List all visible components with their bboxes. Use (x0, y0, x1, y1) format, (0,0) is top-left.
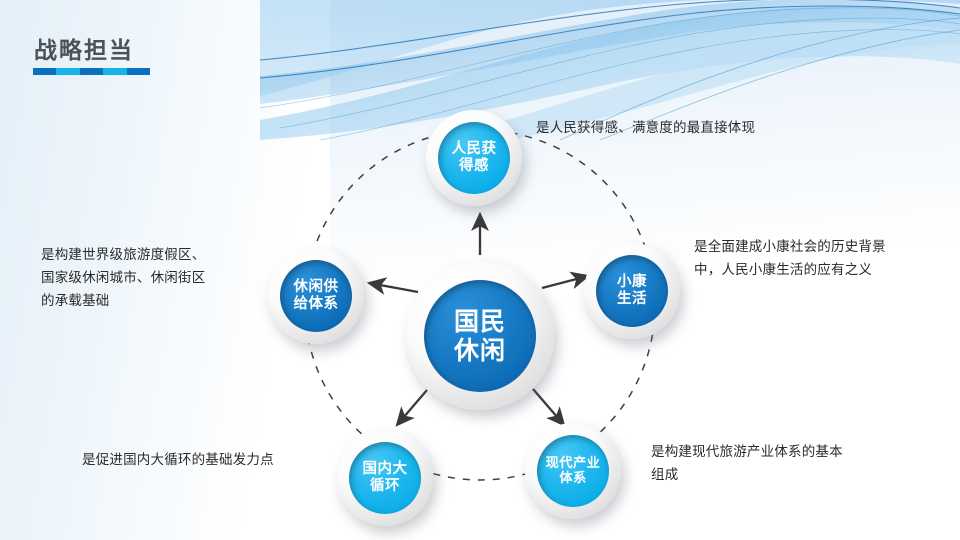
rule-segment-5 (127, 68, 150, 75)
diagram-node-top-label: 人民获 得感 (438, 122, 510, 194)
diagram-node-bottom-right[interactable]: 现代产业 体系 (525, 423, 621, 519)
slide-canvas: 战略担当 国民 休闲 人民获 得感 小康 生活 (0, 0, 960, 540)
diagram-node-right[interactable]: 小康 生活 (584, 243, 680, 339)
annotation-bottom-right: 是构建现代旅游产业体系的基本 组成 (651, 441, 901, 487)
diagram-node-top[interactable]: 人民获 得感 (426, 110, 522, 206)
arrow-center-to-left (369, 283, 418, 292)
diagram-node-bottom-right-label: 现代产业 体系 (537, 435, 609, 507)
page-title: 战略担当 (34, 31, 134, 65)
diagram-node-left-label: 休闲供 给体系 (280, 260, 352, 332)
rule-segment-2 (56, 68, 79, 75)
arrow-center-to-bottom-right (533, 389, 564, 425)
annotation-bottom-left: 是促进国内大循环的基础发力点 (82, 449, 274, 472)
arrow-center-to-bottom-left (397, 390, 427, 425)
diagram-node-center-label: 国民 休闲 (424, 280, 536, 392)
annotation-right: 是全面建成小康社会的历史背景 中，人民小康生活的应有之义 (694, 236, 934, 282)
diagram-node-left[interactable]: 休闲供 给体系 (268, 248, 364, 344)
diagram-node-center[interactable]: 国民 休闲 (406, 262, 554, 410)
rule-segment-4 (103, 68, 126, 75)
diagram-node-bottom-left[interactable]: 国内大 循环 (337, 430, 433, 526)
rule-segment-1 (33, 68, 56, 75)
rule-segment-3 (80, 68, 103, 75)
arrow-center-to-right (542, 276, 588, 288)
annotation-left: 是构建世界级旅游度假区、 国家级休闲城市、休闲街区 的承载基础 (41, 244, 256, 314)
title-underline-rule (33, 68, 150, 75)
diagram-node-right-label: 小康 生活 (596, 255, 668, 327)
annotation-top: 是人民获得感、满意度的最直接体现 (536, 117, 755, 140)
diagram-node-bottom-left-label: 国内大 循环 (349, 442, 421, 514)
